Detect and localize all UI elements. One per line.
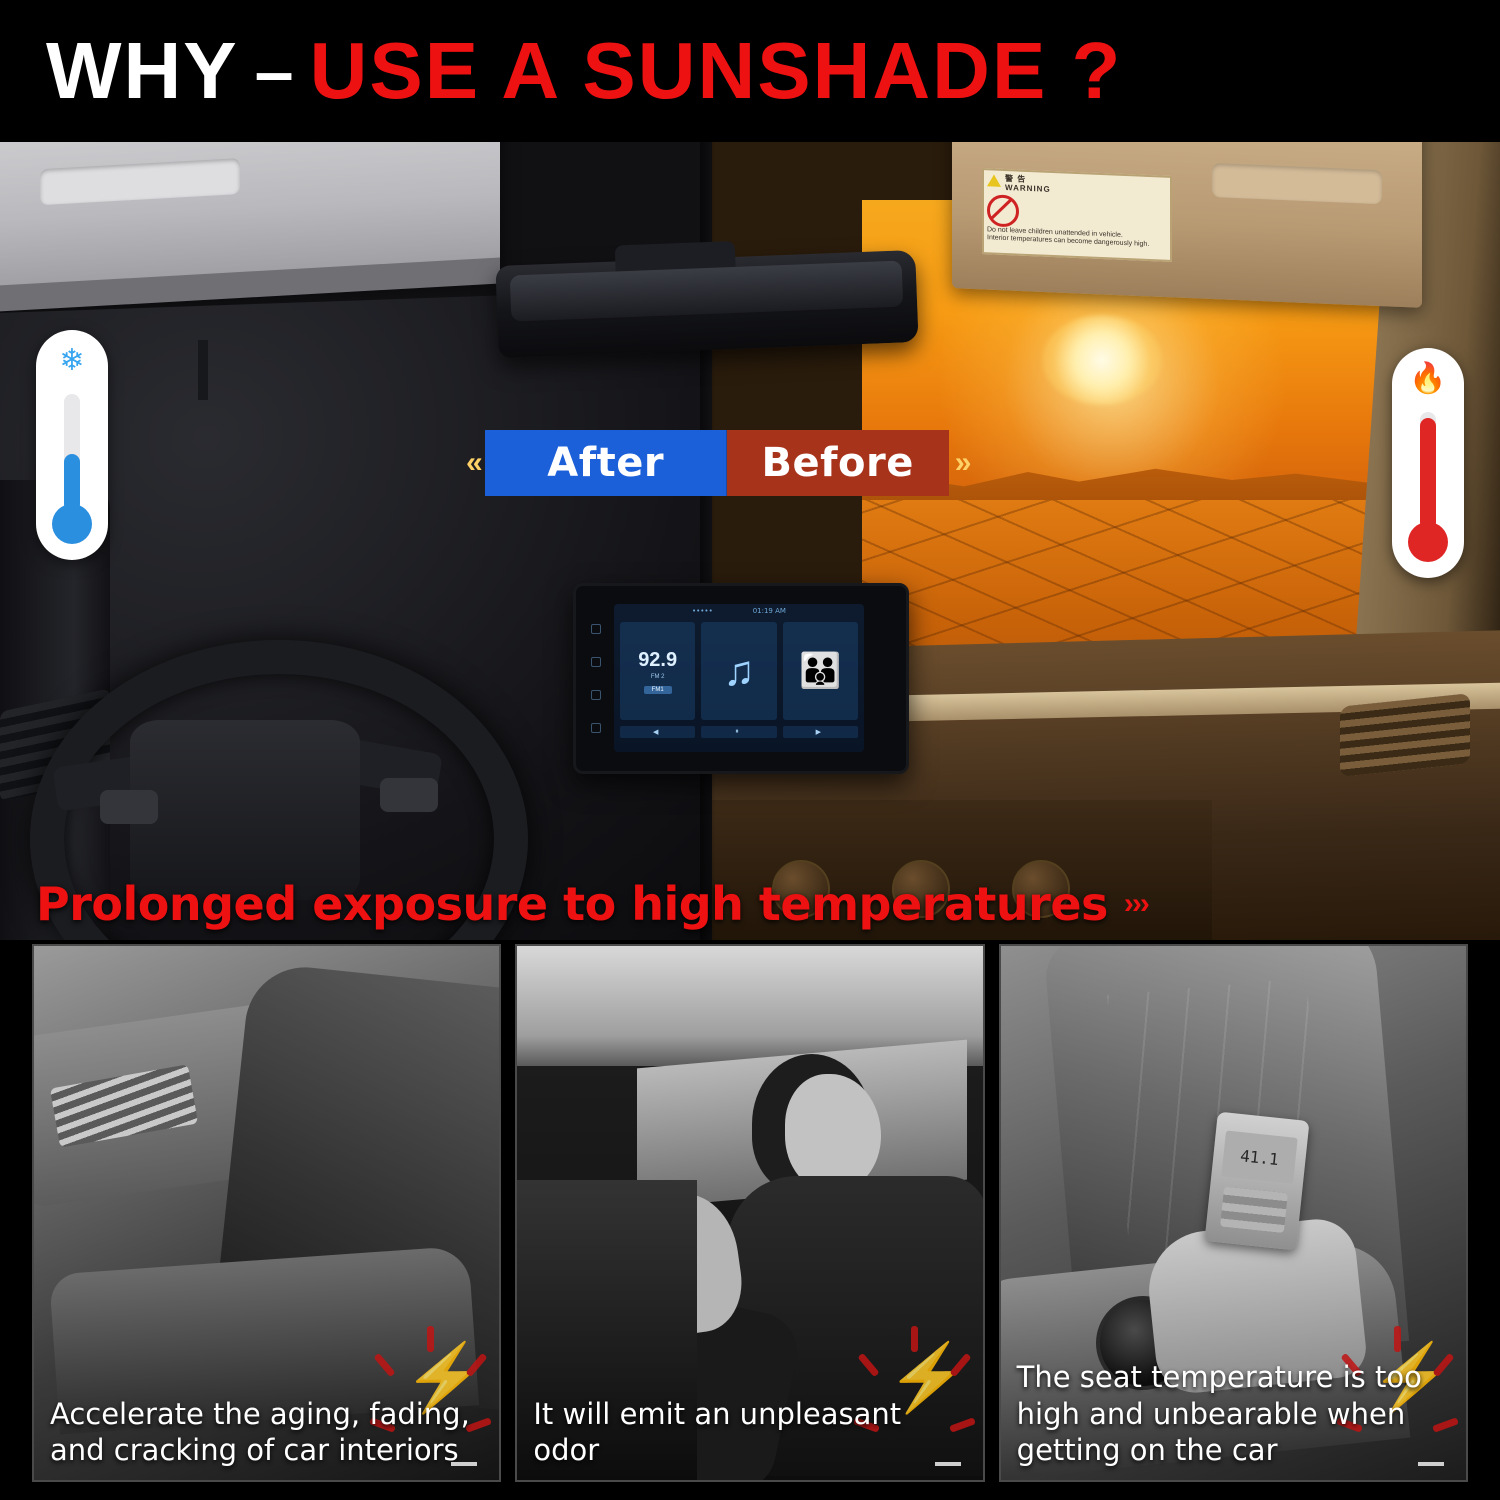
next-track-button[interactable]: ▶	[783, 726, 858, 738]
thermometer-buttons	[1220, 1187, 1288, 1233]
status-signal: •••••	[692, 607, 713, 615]
infotainment-head-unit[interactable]: ••••• 01:19 AM 92.9 FM 2 FM1 ♫ 👪	[573, 583, 909, 774]
subtitle-arrows-icon: ›››	[1124, 887, 1148, 921]
consequence-card-aging: ⚡ Accelerate the aging, fading, and crac…	[32, 944, 501, 1482]
cold-thermometer: ❄	[36, 330, 108, 560]
mirror-glass	[510, 261, 903, 322]
thermometer-reading: 41.1	[1221, 1130, 1297, 1183]
card-underscore	[451, 1462, 477, 1466]
media-tile[interactable]: ♫	[701, 622, 776, 720]
card-caption: Accelerate the aging, fading, and cracki…	[50, 1396, 483, 1469]
infotainment-statusbar: ••••• 01:19 AM	[614, 604, 864, 618]
side-button-1-icon[interactable]	[591, 624, 601, 634]
cold-thermometer-bulb	[52, 504, 92, 544]
consequence-card-list: ⚡ Accelerate the aging, fading, and crac…	[0, 944, 1500, 1500]
headline-use-a-sunshade: USE A SUNSHADE ?	[310, 31, 1123, 111]
infotainment-tiles: 92.9 FM 2 FM1 ♫ 👪	[614, 618, 864, 724]
warning-label-title: WARNING	[1005, 183, 1051, 194]
infotainment-side-buttons[interactable]	[588, 612, 604, 744]
side-button-4-icon[interactable]	[591, 723, 601, 733]
before-label[interactable]: Before	[727, 430, 949, 496]
infotainment-screen[interactable]: ••••• 01:19 AM 92.9 FM 2 FM1 ♫ 👪	[614, 604, 864, 752]
steering-button-cluster-left	[100, 790, 158, 824]
side-button-3-icon[interactable]	[591, 690, 601, 700]
steering-button-cluster-right	[380, 778, 438, 812]
radio-band: FM 2	[651, 674, 665, 680]
no-smoking-icon	[987, 195, 1019, 228]
radio-tile[interactable]: 92.9 FM 2 FM1	[620, 622, 695, 720]
seat-icon: 👪	[799, 651, 841, 691]
headline-why: WHY	[46, 31, 239, 111]
after-label[interactable]: After	[485, 430, 727, 496]
radio-preset-button[interactable]: FM1	[644, 686, 672, 694]
consequence-card-odor: ⚡ It will emit an unpleasant odor	[515, 944, 984, 1482]
play-pause-button[interactable]: ⏸	[701, 726, 776, 738]
poster-headline: WHY – USE A SUNSHADE ?	[0, 0, 1500, 142]
subtitle-text: Prolonged exposure to high temperatures	[36, 877, 1108, 931]
radio-frequency: 92.9	[638, 649, 677, 672]
music-note-icon: ♫	[723, 647, 755, 695]
warning-triangle-icon	[987, 174, 1001, 187]
card-underscore	[935, 1462, 961, 1466]
mirror-stem	[198, 340, 208, 400]
prev-track-button[interactable]: ◀	[620, 726, 695, 738]
flame-icon: 🔥	[1409, 364, 1446, 394]
card-underscore	[1418, 1462, 1444, 1466]
rear-view-mirror	[495, 250, 918, 358]
subtitle-band: Prolonged exposure to high temperatures …	[0, 866, 1500, 942]
infrared-thermometer: 41.1	[1204, 1112, 1309, 1251]
hot-thermometer: 🔥	[1392, 348, 1464, 578]
card-caption: The seat temperature is too high and unb…	[1017, 1359, 1450, 1468]
sun	[1042, 315, 1162, 405]
before-after-toggle[interactable]: « After Before »	[460, 430, 973, 496]
infotainment-transport-bar: ◀ ⏸ ▶	[614, 724, 864, 740]
status-clock: 01:19 AM	[753, 607, 786, 615]
air-vent-right	[1340, 693, 1470, 777]
snowflake-icon: ❄	[59, 346, 84, 376]
left-chevron-icon: «	[460, 446, 485, 480]
card-caption: It will emit an unpleasant odor	[533, 1396, 966, 1469]
consequence-card-seat-temperature: 41.1 ⚡ The seat temperature is too high …	[999, 944, 1468, 1482]
headline-dash: –	[255, 36, 294, 106]
hot-thermometer-bulb	[1408, 522, 1448, 562]
right-chevron-icon: »	[949, 446, 974, 480]
poster-root: 警 告 WARNING Do not leave children unatte…	[0, 0, 1500, 1500]
visor-warning-label: 警 告 WARNING Do not leave children unatte…	[982, 168, 1172, 262]
seat-tile[interactable]: 👪	[783, 622, 858, 720]
hot-thermometer-fill	[1420, 418, 1436, 530]
side-button-2-icon[interactable]	[591, 657, 601, 667]
